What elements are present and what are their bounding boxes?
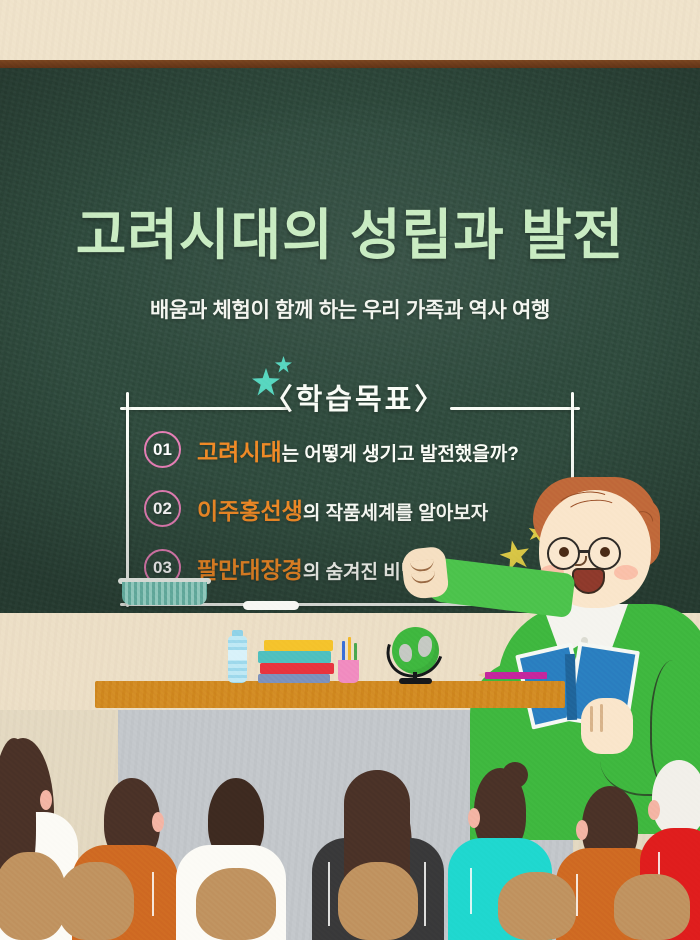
student-ear-6 [576, 820, 588, 840]
student-ear-7 [648, 800, 660, 820]
book-yellow [264, 640, 333, 651]
pencil-cup [338, 660, 359, 683]
book-red [260, 663, 334, 674]
glasses-bridge [579, 550, 590, 553]
star-icon-cyan-small [275, 356, 292, 373]
student-ear-2 [152, 812, 164, 832]
front-student-head-3 [196, 868, 276, 940]
poster-canvas: 고려시대의 성립과 발전 배움과 체험이 함께 하는 우리 가족과 역사 여행 … [0, 0, 700, 940]
teacher-hand-holding-book [581, 698, 633, 754]
chalkboard-eraser [122, 582, 207, 605]
goal-keyword-2: 이주홍선생 [197, 498, 303, 524]
student-collar-2 [152, 872, 154, 916]
pencil-yellow [348, 637, 351, 661]
student-ear-1 [40, 790, 52, 810]
pencil-green [354, 643, 357, 661]
goal-text-1: 고려시대는 어떻게 생기고 발전했을까? [197, 433, 519, 467]
page-title: 고려시대의 성립과 발전 [0, 190, 700, 270]
desk-pencil [485, 672, 547, 679]
front-student-head-5 [498, 872, 576, 940]
goal-badge-2: 02 [144, 490, 181, 527]
student-ear-5 [468, 808, 480, 828]
goal-item-1: 01 고려시대는 어떻게 생기고 발전했을까? [144, 431, 519, 468]
learning-goals-heading: 〈학습목표〉 [260, 376, 450, 418]
front-student-head-6 [614, 874, 690, 940]
book-blue [258, 674, 330, 683]
goal-item-2: 02 이주홍선생의 작품세계를 알아보자 [144, 490, 488, 527]
goal-badge-1: 01 [144, 431, 181, 468]
classroom-wall [0, 0, 700, 62]
teacher-eye-right [600, 547, 610, 557]
front-student-head-4 [338, 862, 418, 940]
student-collar-4b [424, 862, 426, 926]
goal-keyword-3: 팔만대장경 [197, 557, 303, 583]
student-collar-6 [576, 874, 578, 916]
student-collar-4a [328, 862, 330, 926]
frame-line-top-right [450, 407, 580, 410]
teacher-eye-left [559, 547, 569, 557]
book-teal [258, 651, 331, 663]
student-hair-7 [652, 760, 700, 836]
goal-rest-1: 는 어떻게 생기고 발전했을까? [282, 444, 519, 465]
frame-line-left [126, 392, 129, 607]
teacher-cheek-right [614, 565, 638, 580]
chalk-stick [243, 601, 299, 610]
goal-keyword-1: 고려시대 [197, 439, 282, 465]
teacher-desk [95, 681, 565, 708]
globe-base [399, 678, 432, 684]
goal-text-2: 이주홍선생의 작품세계를 알아보자 [197, 492, 488, 526]
pencil-blue [342, 641, 345, 661]
water-bottle-label [228, 650, 247, 660]
student-hair-bun-5 [502, 762, 528, 788]
front-student-head-2 [58, 862, 134, 940]
front-student-head-1 [0, 852, 66, 940]
page-subtitle: 배움과 체험이 함께 하는 우리 가족과 역사 여행 [0, 294, 700, 324]
student-collar-5 [470, 868, 472, 914]
goal-rest-2: 의 작품세계를 알아보자 [303, 503, 488, 524]
